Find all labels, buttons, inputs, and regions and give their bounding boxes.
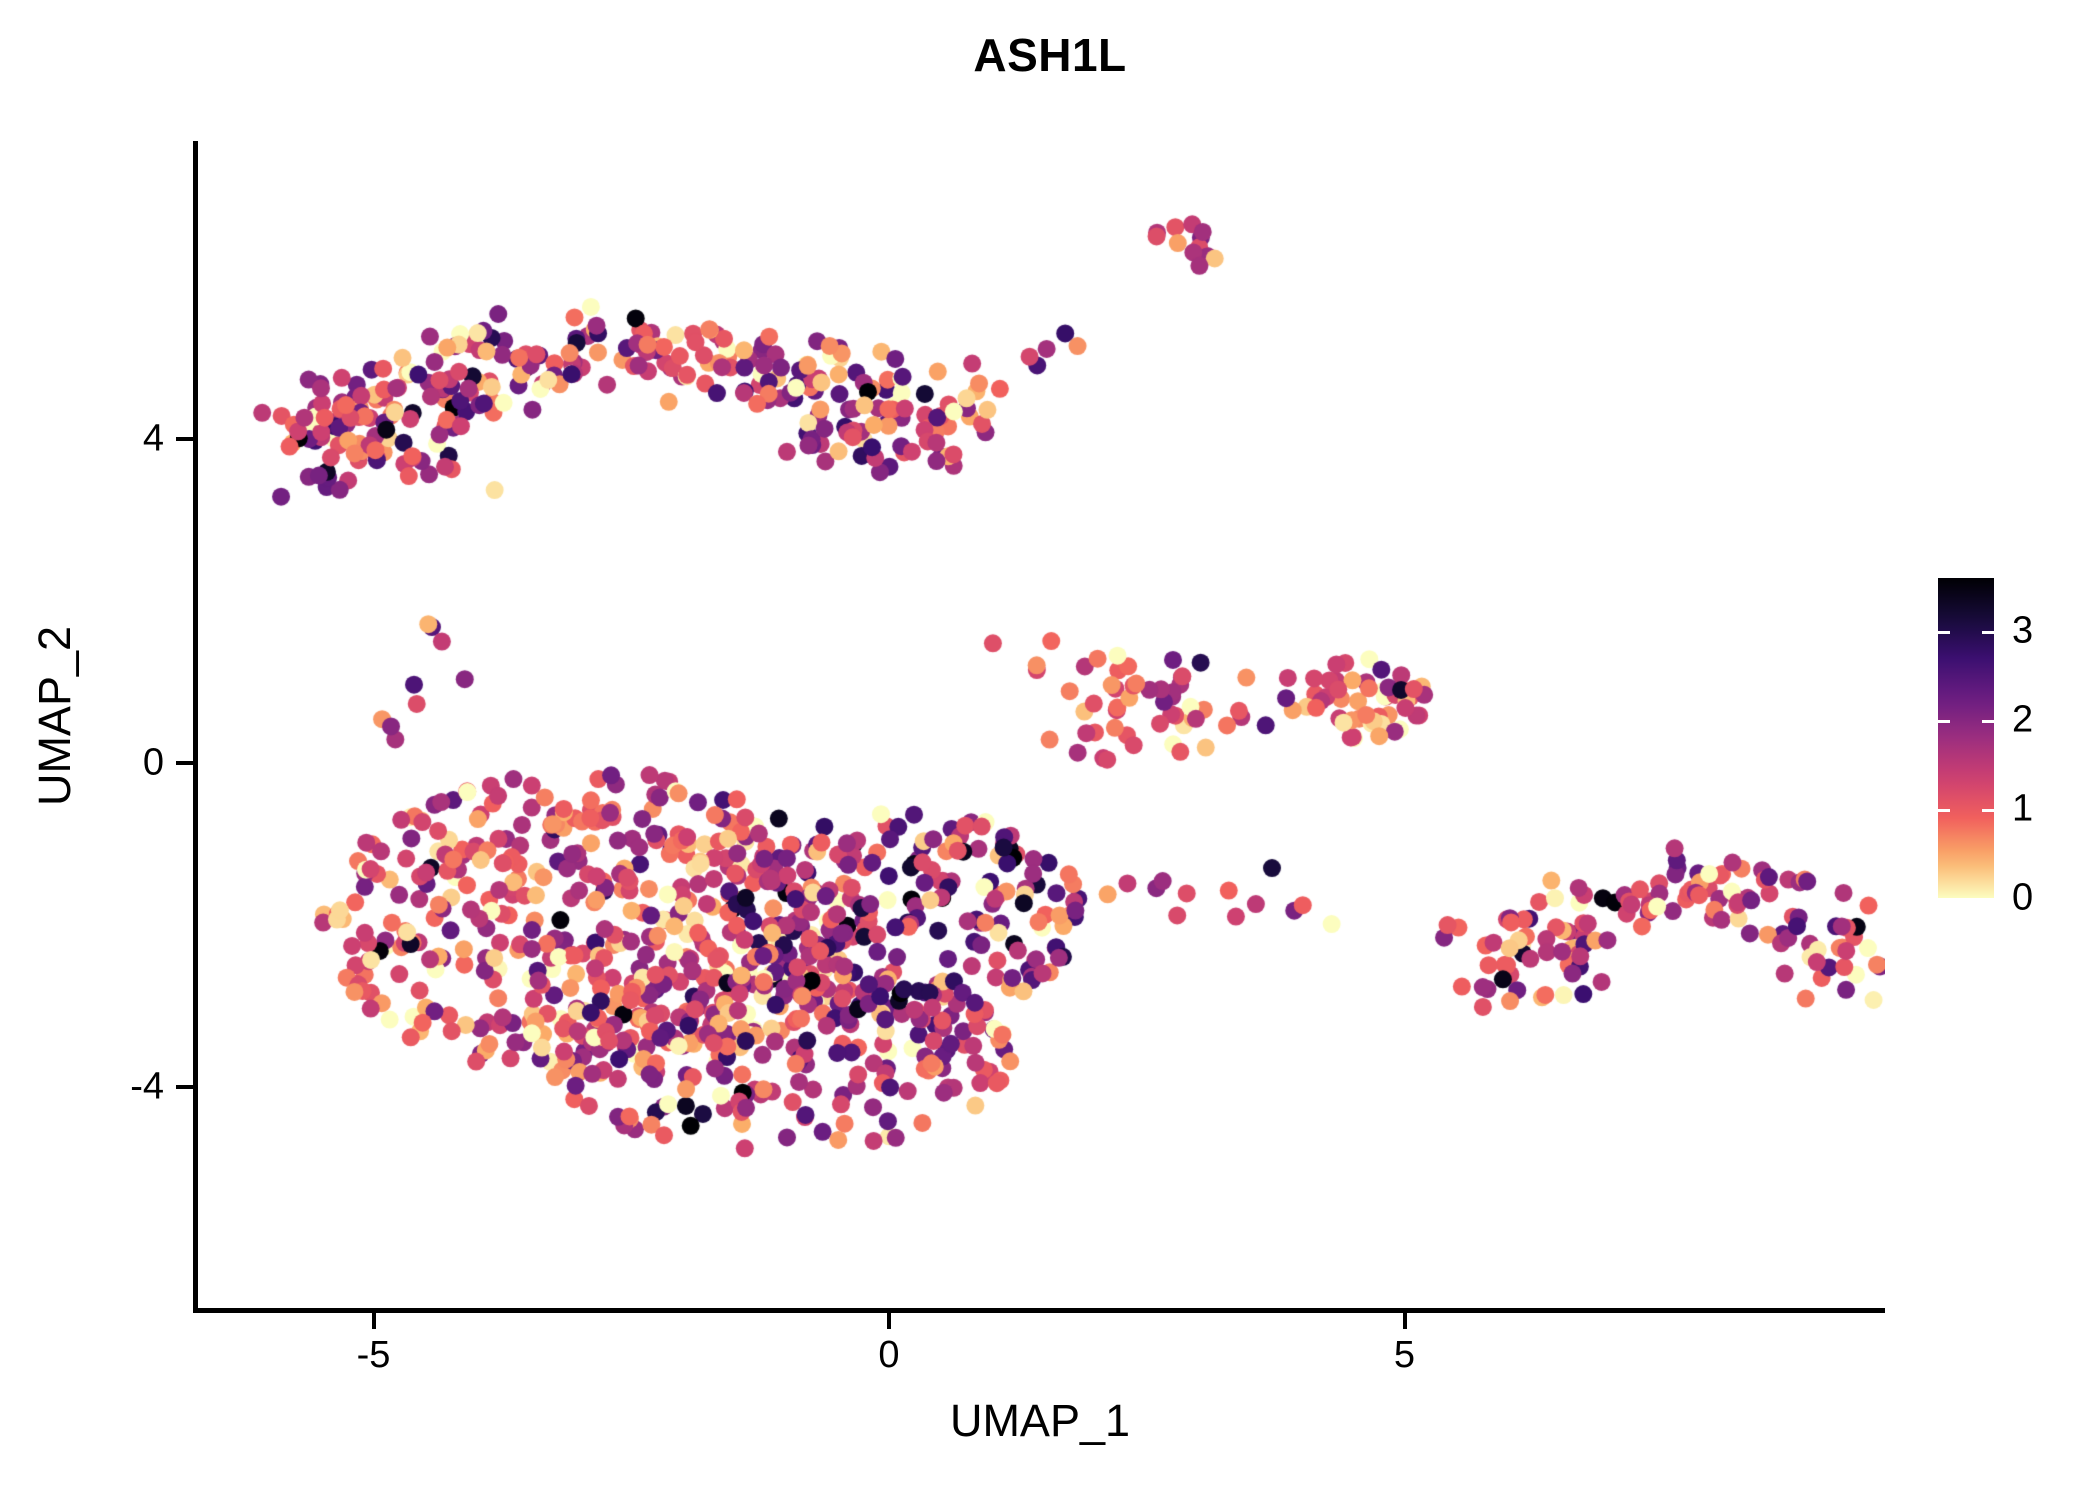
x-tick-mark [1403,1312,1407,1329]
colorbar-tick-mark [1938,720,1950,723]
colorbar-tick-mark [1982,631,1994,634]
colorbar-tick-mark [1982,720,1994,723]
y-tick-label: 0 [0,742,164,785]
x-tick-label: -5 [357,1334,391,1377]
colorbar-tick-label: 1 [2012,788,2033,831]
colorbar-gradient [1938,578,1994,898]
colorbar-tick-mark [1938,809,1950,812]
feature-plot-figure: ASH1L -505 -404 UMAP_1 UMAP_2 3210 [0,0,2100,1500]
x-tick-mark [887,1312,891,1329]
page-title: ASH1L [0,28,2100,82]
y-tick-mark [176,437,193,441]
x-axis-line [193,1308,1885,1313]
x-axis-title: UMAP_1 [195,1395,1885,1447]
y-axis-title: UMAP_2 [29,456,81,976]
colorbar-tick-mark [1938,898,1950,901]
color-legend: 3210 [1938,578,2088,938]
scatter-points-canvas [195,141,1885,1311]
colorbar-tick-mark [1982,809,1994,812]
colorbar-tick-mark [1938,631,1950,634]
colorbar-tick-label: 3 [2012,610,2033,653]
x-tick-label: 0 [878,1334,899,1377]
y-tick-mark [176,1085,193,1089]
y-tick-label: 4 [0,418,164,461]
colorbar-tick-mark [1982,898,1994,901]
scatter-plot-panel [195,141,1885,1311]
y-tick-label: -4 [0,1066,164,1109]
y-axis-line [193,141,198,1313]
colorbar-tick-label: 2 [2012,699,2033,742]
x-tick-label: 5 [1394,1334,1415,1377]
y-tick-mark [176,761,193,765]
x-tick-mark [372,1312,376,1329]
colorbar-tick-label: 0 [2012,877,2033,920]
